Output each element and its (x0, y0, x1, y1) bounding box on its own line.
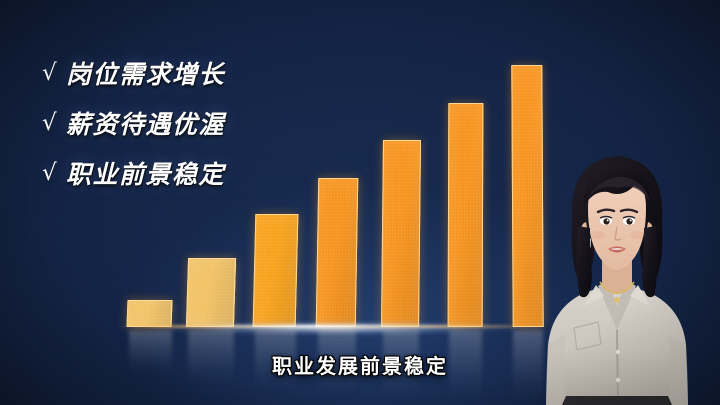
presenter-illustration (522, 130, 712, 405)
bar-3 (253, 214, 299, 327)
bar-2 (186, 258, 236, 327)
bullet-item: √ 薪资待遇优渥 (42, 98, 342, 148)
check-icon: √ (42, 62, 66, 85)
bar-1 (126, 300, 172, 327)
slide-canvas: √ 岗位需求增长 √ 薪资待遇优渥 √ 职业前景稳定 职业发展前景稳定 (0, 0, 720, 405)
bullet-item: √ 岗位需求增长 (42, 48, 342, 98)
bullet-label: 职业前景稳定 (66, 155, 225, 191)
bullet-item: √ 职业前景稳定 (42, 148, 342, 198)
bullet-label: 薪资待遇优渥 (66, 105, 225, 141)
check-icon: √ (42, 162, 66, 185)
bar-5 (381, 140, 421, 327)
check-icon: √ (42, 112, 66, 135)
floor-highlight-line (118, 325, 548, 328)
bullet-list: √ 岗位需求增长 √ 薪资待遇优渥 √ 职业前景稳定 (42, 48, 342, 198)
presenter-figure (522, 130, 712, 405)
bar-6 (448, 103, 484, 327)
bullet-label: 岗位需求增长 (66, 55, 225, 91)
bar-4 (316, 178, 359, 327)
